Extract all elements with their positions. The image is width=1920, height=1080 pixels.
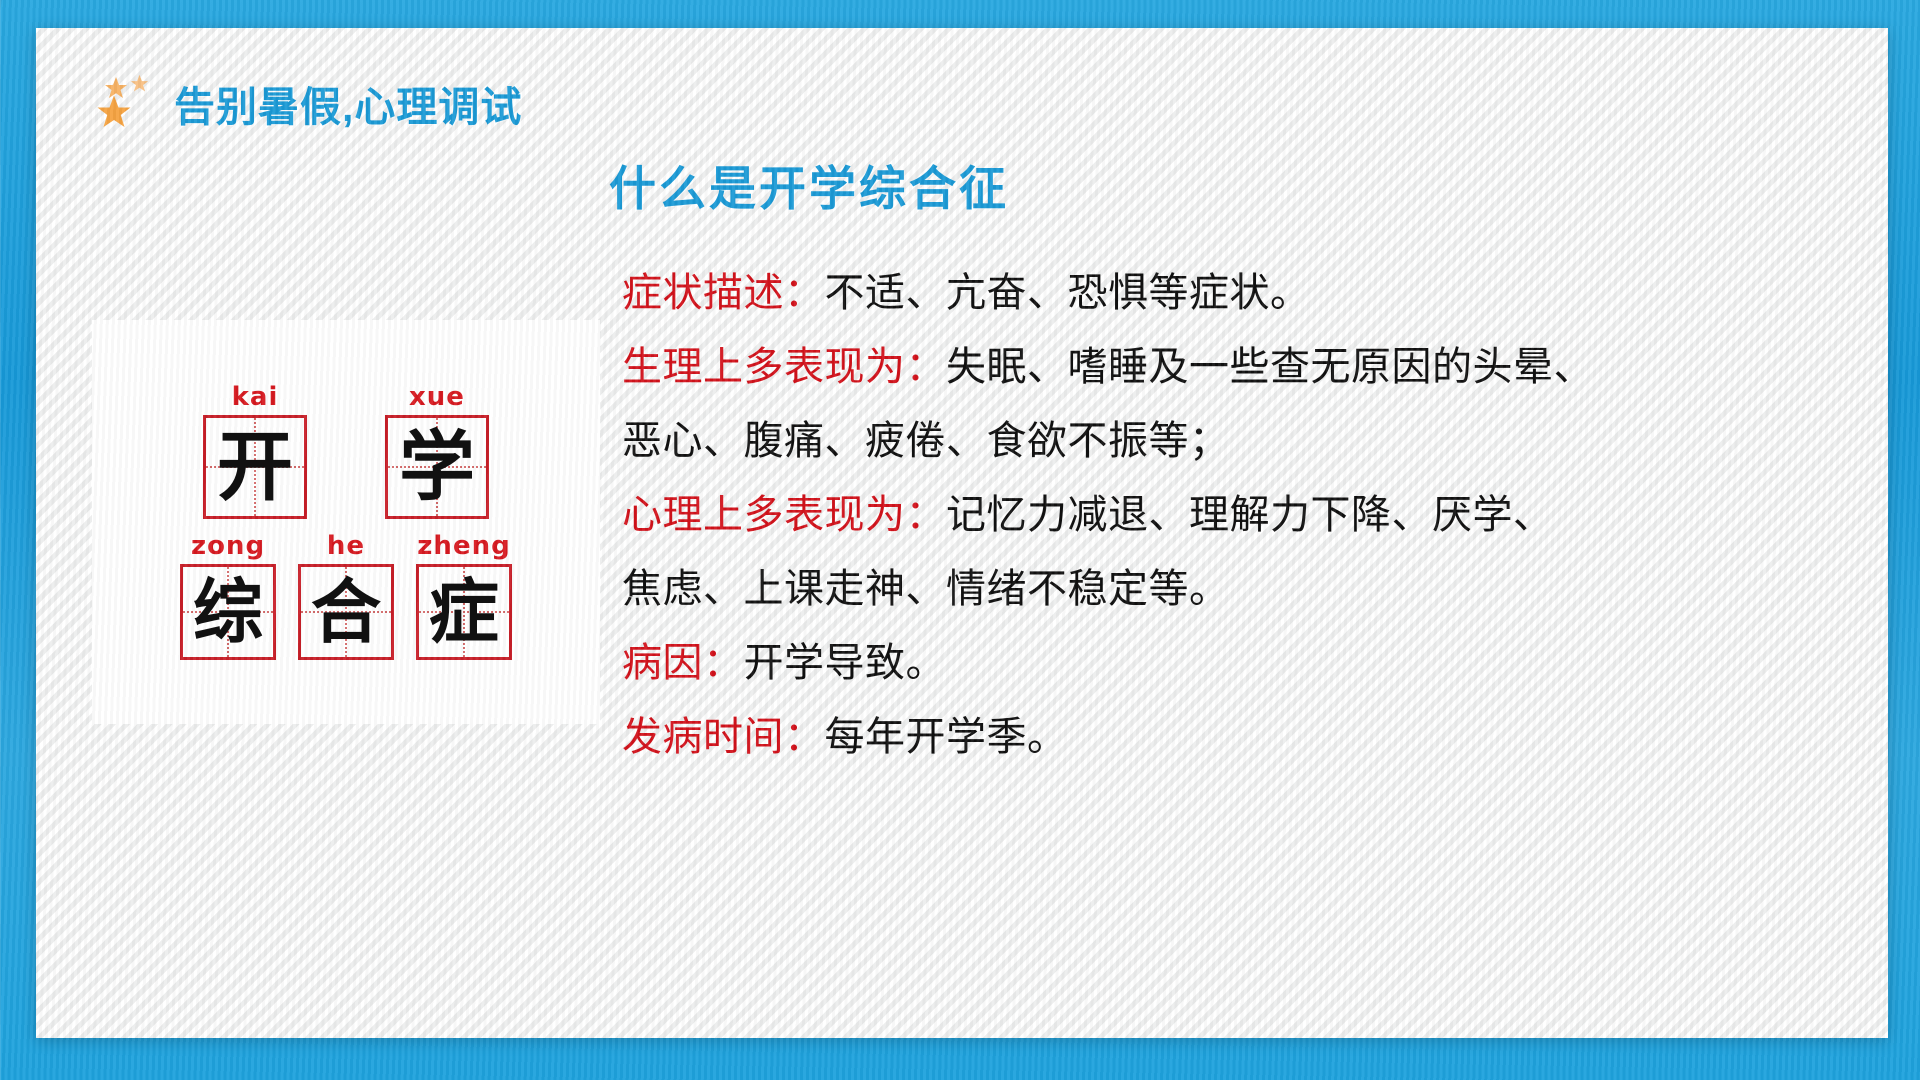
content-line-label: 发病时间： bbox=[622, 715, 825, 759]
hanzi-glyph: 开 bbox=[217, 429, 293, 505]
content-line: 恶心、腹痛、疲倦、食欲不振等； bbox=[622, 404, 1872, 478]
hanzi-glyph: 症 bbox=[429, 577, 499, 647]
character-cell: xue 学 bbox=[385, 384, 489, 519]
tianzige-box: 症 bbox=[416, 564, 512, 660]
character-row-top: kai 开 xue 学 bbox=[203, 384, 489, 519]
tianzige-box: 开 bbox=[203, 415, 307, 519]
character-cell: zong 综 bbox=[180, 533, 276, 660]
hanzi-glyph: 学 bbox=[399, 429, 475, 505]
content-line-text: 每年开学季。 bbox=[825, 715, 1068, 759]
content-line: 焦虑、上课走神、情绪不稳定等。 bbox=[622, 552, 1872, 626]
slide-header: 告别暑假,心理调试 bbox=[96, 73, 522, 133]
page-title: 什么是开学综合征 bbox=[609, 150, 1009, 219]
content-line: 发病时间：每年开学季。 bbox=[622, 700, 1872, 774]
content-body: 症状描述：不适、亢奋、恐惧等症状。 生理上多表现为：失眠、嗜睡及一些查无原因的头… bbox=[622, 256, 1872, 774]
content-line-text: 焦虑、上课走神、情绪不稳定等。 bbox=[622, 567, 1230, 611]
three-star-cluster-icon bbox=[96, 74, 158, 132]
character-cell: kai 开 bbox=[203, 384, 307, 519]
slide-card: 告别暑假,心理调试 什么是开学综合征 kai 开 xue 学 bbox=[36, 28, 1888, 1038]
character-grid-image: kai 开 xue 学 zong 综 bbox=[92, 320, 600, 724]
hanzi-glyph: 综 bbox=[193, 577, 263, 647]
character-cell: he 合 bbox=[298, 533, 394, 660]
content-line-label: 症状描述： bbox=[622, 271, 825, 315]
slide-root: 告别暑假,心理调试 什么是开学综合征 kai 开 xue 学 bbox=[0, 0, 1920, 1080]
content-line-text: 开学导致。 bbox=[744, 641, 947, 685]
content-line: 心理上多表现为：记忆力减退、理解力下降、厌学、 bbox=[622, 478, 1872, 552]
pinyin-label: zong bbox=[191, 533, 265, 559]
character-cell: zheng 症 bbox=[416, 533, 512, 660]
content-line-text: 失眠、嗜睡及一些查无原因的头晕、 bbox=[946, 345, 1594, 389]
content-line-text: 记忆力减退、理解力下降、厌学、 bbox=[946, 493, 1554, 537]
tianzige-box: 综 bbox=[180, 564, 276, 660]
content-line-label: 心理上多表现为： bbox=[622, 493, 946, 537]
pinyin-label: he bbox=[327, 533, 365, 559]
content-line-text: 恶心、腹痛、疲倦、食欲不振等； bbox=[622, 419, 1230, 463]
tianzige-box: 合 bbox=[298, 564, 394, 660]
tianzige-box: 学 bbox=[385, 415, 489, 519]
pinyin-label: xue bbox=[409, 384, 465, 410]
pinyin-label: zheng bbox=[417, 533, 510, 559]
content-line-label: 生理上多表现为： bbox=[622, 345, 946, 389]
content-line: 生理上多表现为：失眠、嗜睡及一些查无原因的头晕、 bbox=[622, 330, 1872, 404]
content-line-label: 病因： bbox=[622, 641, 744, 685]
header-title: 告别暑假,心理调试 bbox=[174, 73, 522, 133]
hanzi-glyph: 合 bbox=[311, 577, 381, 647]
character-row-bottom: zong 综 he 合 zheng 症 bbox=[180, 533, 512, 660]
content-line-text: 不适、亢奋、恐惧等症状。 bbox=[825, 271, 1311, 315]
content-line: 病因：开学导致。 bbox=[622, 626, 1872, 700]
pinyin-label: kai bbox=[232, 384, 279, 410]
content-line: 症状描述：不适、亢奋、恐惧等症状。 bbox=[622, 256, 1872, 330]
